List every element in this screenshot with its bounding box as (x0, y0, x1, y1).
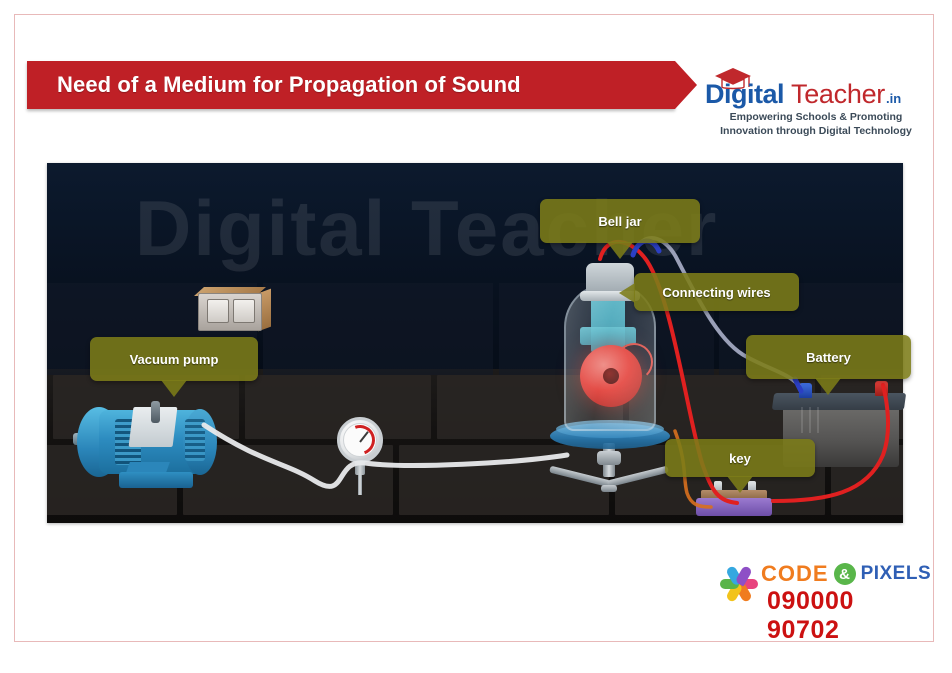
logo-tagline-line-2: Innovation through Digital Technology (705, 125, 927, 139)
slide-card: Need of a Medium for Propagation of Soun… (14, 14, 934, 642)
logo-tagline-line-1: Empowering Schools & Promoting (705, 111, 927, 125)
label-key-text: key (729, 451, 751, 466)
logo-tagline: Empowering Schools & Promoting Innovatio… (705, 111, 927, 138)
vacuum-tube (204, 425, 567, 486)
label-battery-pointer (815, 378, 841, 395)
label-connecting-wires-text: Connecting wires (662, 285, 770, 300)
brand-word-pixels: PIXELS (861, 563, 932, 585)
label-bell-jar[interactable]: Bell jar (540, 199, 700, 243)
label-key-pointer (727, 476, 753, 493)
label-vacuum-pump-pointer (161, 380, 187, 397)
pinwheel-icon (719, 561, 759, 601)
digital-teacher-logo: Digital Teacher .in Empowering Schools &… (705, 59, 927, 143)
logo-word-digital: Digital (705, 79, 784, 110)
label-connecting-wires-pointer (619, 283, 635, 303)
logo-suffix-in: .in (886, 91, 901, 106)
label-key[interactable]: key (665, 439, 815, 477)
label-bell-jar-text: Bell jar (598, 214, 641, 229)
label-vacuum-pump[interactable]: Vacuum pump (90, 337, 258, 381)
contact-phone-number: 090000 90702 (767, 587, 927, 645)
code-and-pixels-wordmark: CODE & PIXELS (761, 561, 931, 587)
brand-ampersand: & (834, 563, 856, 585)
logo-word-teacher: Teacher (791, 79, 885, 110)
brand-word-code: CODE (761, 561, 829, 587)
slide-page: Need of a Medium for Propagation of Soun… (0, 0, 952, 673)
slide-header: Need of a Medium for Propagation of Soun… (15, 15, 935, 131)
banner-arrow-tip (675, 61, 697, 109)
title-banner: Need of a Medium for Propagation of Soun… (27, 61, 675, 109)
label-battery[interactable]: Battery (746, 335, 911, 379)
label-battery-text: Battery (806, 350, 851, 365)
label-connecting-wires[interactable]: Connecting wires (634, 273, 799, 311)
label-vacuum-pump-text: Vacuum pump (130, 352, 219, 367)
code-and-pixels-logo: CODE & PIXELS 090000 90702 (715, 553, 927, 619)
page-title: Need of a Medium for Propagation of Soun… (27, 72, 521, 98)
wire-negative-battery-tip (795, 379, 801, 391)
wire-negative-terminal-tip (633, 241, 659, 255)
logo-wordmark: Digital Teacher .in (705, 79, 927, 111)
label-bell-jar-pointer (607, 242, 633, 259)
